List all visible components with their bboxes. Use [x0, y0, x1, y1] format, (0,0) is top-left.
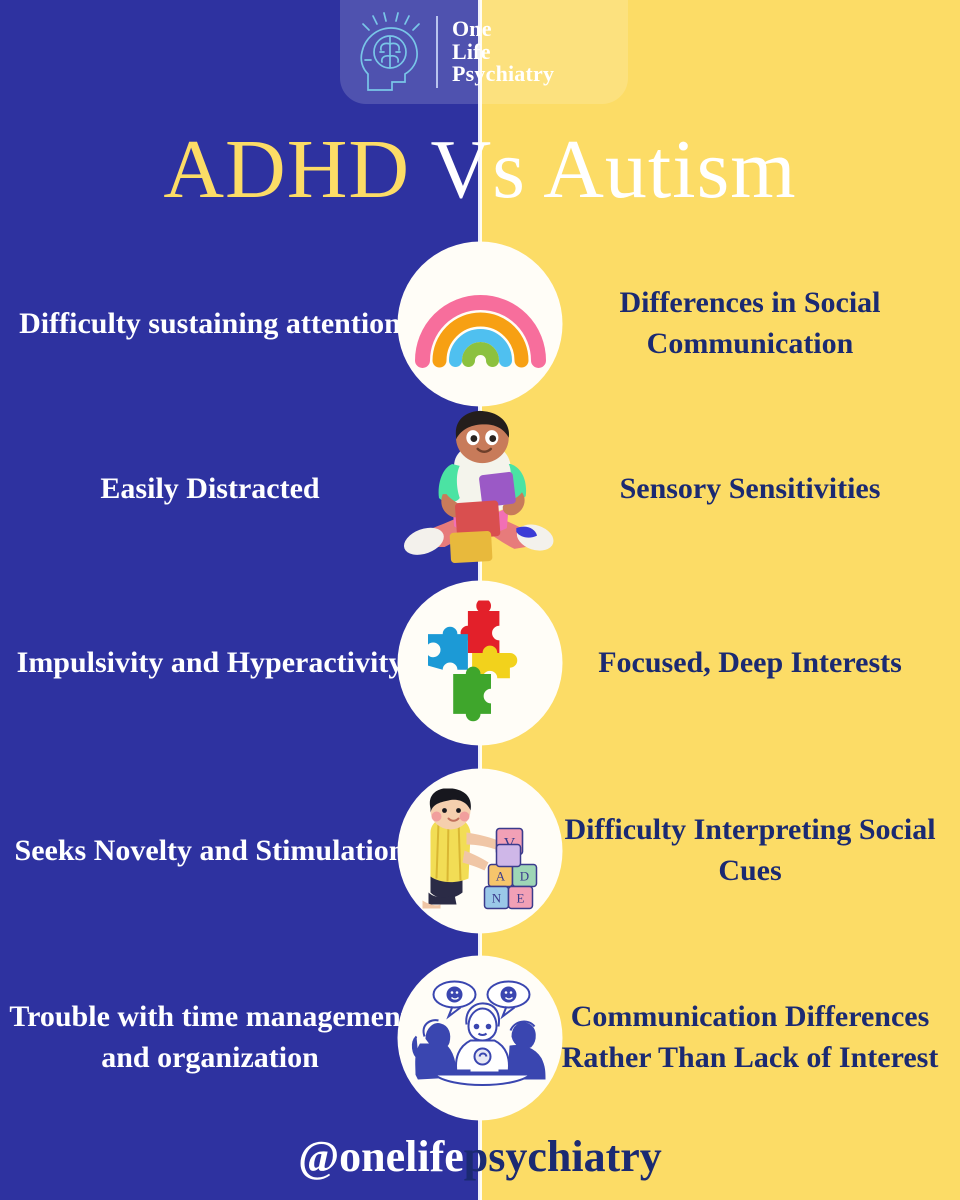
icon-disc [398, 242, 563, 407]
icon-disc: V A D N E [398, 769, 563, 934]
icon-disc [398, 407, 563, 572]
icon-disc [398, 581, 563, 746]
brand-name-line-1: One [452, 18, 554, 40]
brand-name: One Life Psychiatry [452, 18, 554, 85]
page-title: ADHD Vs Autism [0, 128, 960, 212]
puzzle-pieces-icon [417, 600, 543, 726]
title-part-autism: s Autism [492, 123, 796, 216]
brand-name-line-3: Psychiatry [452, 63, 554, 85]
adhd-trait-text: Impulsivity and Hyperactivity [0, 643, 420, 684]
comparison-row: Seeks Novelty and Stimulation [0, 766, 960, 936]
boy-stacking-alphabet-blocks-icon: V A D N E [410, 789, 550, 914]
svg-text:N: N [491, 891, 501, 906]
autism-trait-text: Communication Differences Rather Than La… [540, 997, 960, 1079]
svg-text:A: A [495, 869, 505, 884]
group-conversation-icon [410, 979, 550, 1097]
infographic-poster: One Life Psychiatry ADHD Vs Autism Diffi… [0, 0, 960, 1200]
brain-head-icon [358, 12, 432, 92]
adhd-trait-text: Trouble with time management and organiz… [0, 997, 420, 1079]
autism-trait-text: Difficulty Interpreting Social Cues [540, 810, 960, 892]
title-part-adhd: ADHD [163, 123, 410, 216]
title-part-vs: V [410, 123, 492, 216]
adhd-trait-text: Easily Distracted [0, 469, 420, 510]
comparison-row: Difficulty sustaining attention Differen… [0, 244, 960, 404]
comparison-row: Trouble with time management and organiz… [0, 950, 960, 1125]
comparison-row: Easily Distracted [0, 404, 960, 574]
autism-trait-text: Sensory Sensitivities [540, 469, 960, 510]
brand-logo: One Life Psychiatry [340, 0, 628, 104]
svg-text:E: E [516, 891, 524, 906]
social-handle: @onelifepsychiatry [0, 1131, 960, 1182]
adhd-trait-text: Seeks Novelty and Stimulation [0, 831, 420, 872]
social-handle-right: psychiatry [464, 1132, 662, 1181]
brand-name-line-2: Life [452, 41, 554, 63]
rainbow-icon [410, 274, 550, 374]
child-with-blocks-3d-icon [398, 407, 563, 572]
adhd-trait-text: Difficulty sustaining attention [0, 304, 420, 345]
autism-trait-text: Differences in Social Communication [540, 283, 960, 365]
social-handle-left: @onelife [298, 1132, 464, 1181]
comparison-row: Impulsivity and Hyperactivity [0, 578, 960, 748]
autism-trait-text: Focused, Deep Interests [540, 643, 960, 684]
logo-divider [436, 16, 438, 88]
icon-disc [398, 955, 563, 1120]
svg-text:D: D [519, 869, 528, 884]
